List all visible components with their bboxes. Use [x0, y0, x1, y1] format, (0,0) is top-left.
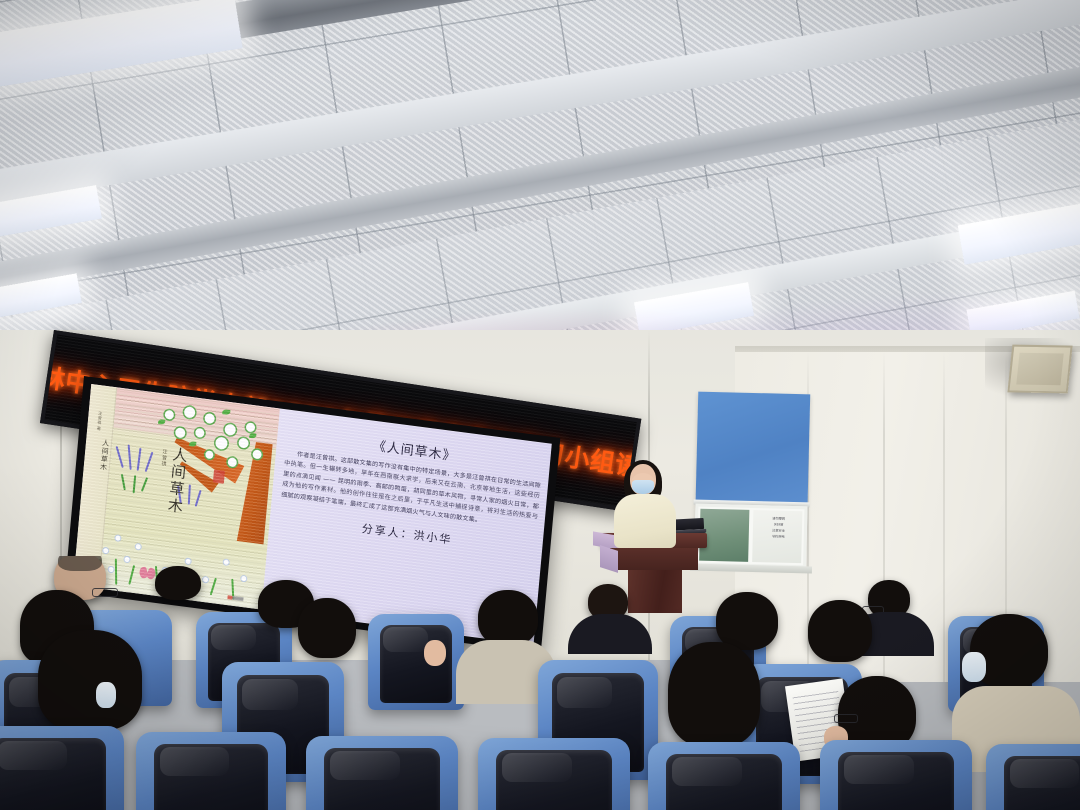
blossom-shape	[227, 457, 237, 467]
eyeglasses-icon	[92, 588, 118, 597]
seat-highlight	[557, 677, 612, 708]
wildflower-shape	[136, 544, 141, 550]
seat-highlight	[160, 747, 229, 776]
book-spine-title: 人间草木	[91, 437, 111, 471]
audience-hand	[424, 640, 446, 666]
audience-seat[interactable]	[820, 740, 972, 810]
seat-highlight	[672, 757, 742, 786]
window-assembly: 请勿攀爬 关好窗 注意安全 节约用电	[692, 392, 816, 580]
audience-head	[155, 566, 201, 600]
seat-highlight	[383, 627, 427, 652]
audience-head	[808, 600, 872, 662]
seat-highlight	[844, 755, 914, 784]
seat-highlight	[1010, 759, 1079, 788]
audience-seat[interactable]	[648, 742, 800, 810]
window-roller-blind[interactable]	[696, 392, 811, 507]
face-mask-icon	[962, 652, 986, 682]
audience-seat[interactable]	[478, 738, 630, 810]
audience-head	[478, 590, 538, 646]
presenter-jacket	[614, 494, 676, 548]
presenter-person	[604, 464, 682, 548]
notice-line: 节约用电	[759, 533, 798, 540]
wildflower-shape	[103, 547, 108, 553]
audience-area	[0, 556, 1080, 810]
audience-head	[716, 592, 778, 650]
audience-seat[interactable]	[986, 744, 1080, 810]
audience-shoulder	[568, 614, 652, 654]
face-mask-icon	[96, 682, 116, 708]
audience-seat[interactable]	[306, 736, 458, 810]
seat-highlight	[0, 741, 67, 770]
audience-seat[interactable]	[368, 614, 464, 710]
audience-head	[298, 598, 356, 658]
cover-seal-stamp	[213, 469, 225, 483]
seat-highlight	[242, 679, 298, 710]
wildflower-shape	[115, 535, 120, 541]
eyeglasses-icon	[834, 714, 858, 723]
window-notice-sign: 请勿攀爬 关好窗 注意安全 节约用电	[759, 515, 799, 540]
audience-head	[38, 630, 142, 730]
face-mask-icon	[632, 480, 654, 494]
seat-highlight	[502, 753, 572, 782]
meeting-room-photo: 晋江市英林中心卫生院党支部2025年第四季度青年学习小组读书分享会 汪曾祺 著 …	[0, 0, 1080, 810]
audience-seat[interactable]	[0, 726, 124, 810]
audience-seat[interactable]	[136, 732, 286, 810]
seat-highlight	[330, 751, 400, 780]
blossom-shape	[205, 450, 214, 459]
wall-speaker-icon	[1007, 345, 1072, 394]
seat-highlight	[211, 625, 255, 650]
audience-head	[668, 642, 760, 746]
